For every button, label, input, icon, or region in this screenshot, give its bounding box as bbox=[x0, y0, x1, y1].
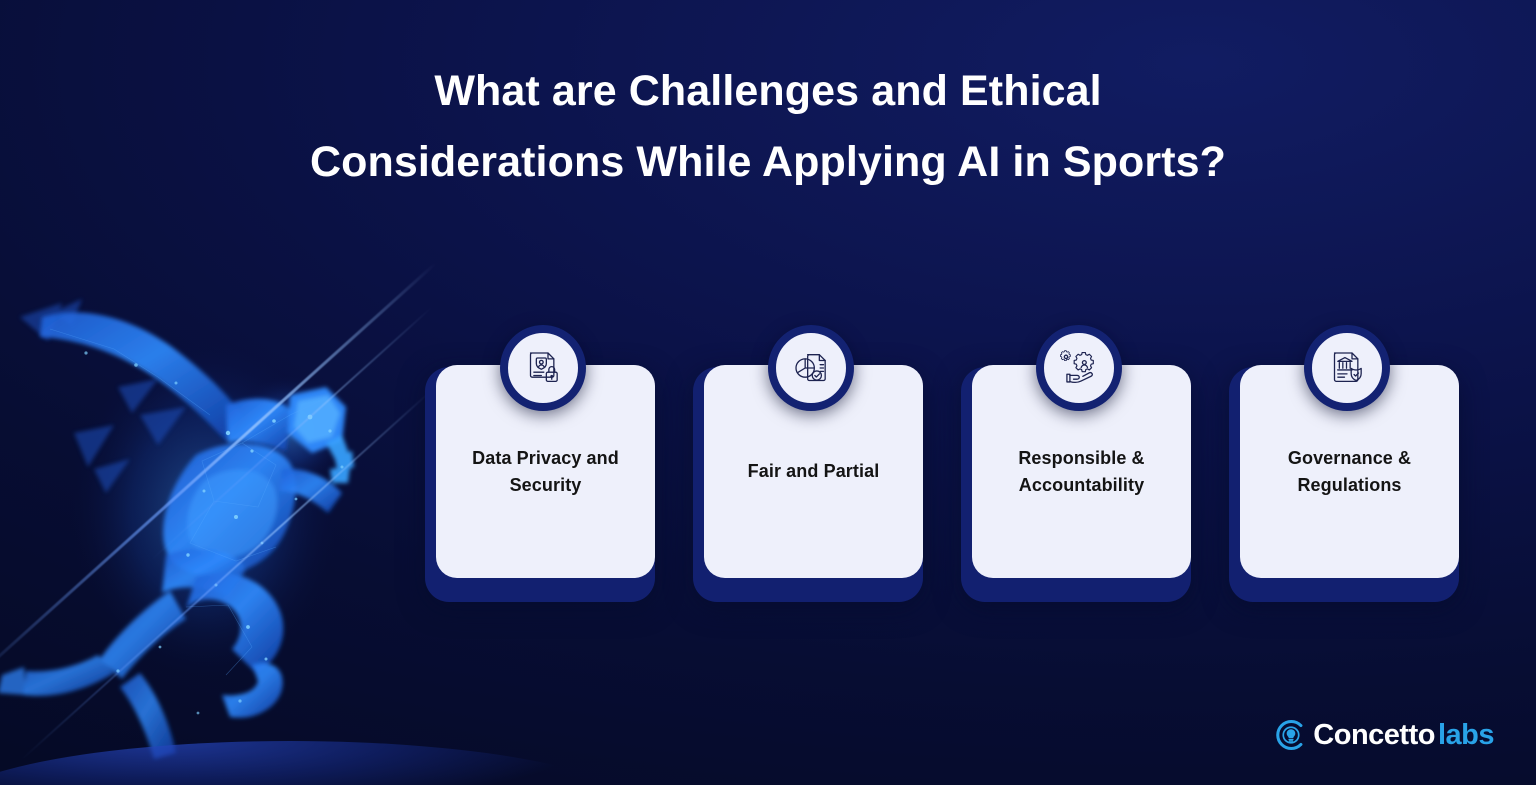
card-label: Fair and Partial bbox=[748, 458, 880, 484]
concettolabs-logo[interactable]: Concetto labs bbox=[1273, 717, 1494, 753]
hand-gears-person-icon bbox=[1036, 325, 1122, 411]
bottom-glow-band bbox=[0, 741, 640, 785]
page-title: What are Challenges and Ethical Consider… bbox=[0, 56, 1536, 198]
page-title-line-2: Considerations While Applying AI in Spor… bbox=[120, 127, 1416, 198]
circle-lightbulb-icon bbox=[1273, 717, 1309, 753]
bank-document-shield-icon bbox=[1304, 325, 1390, 411]
card-fair-and-partial[interactable]: Fair and Partial bbox=[693, 325, 939, 605]
logo-word-secondary: labs bbox=[1438, 721, 1494, 750]
card-data-privacy-and-security[interactable]: Data Privacy and Security bbox=[425, 325, 671, 605]
logo-word-primary: Concetto bbox=[1313, 721, 1435, 750]
infographic-canvas: What are Challenges and Ethical Consider… bbox=[0, 0, 1536, 785]
challenge-cards-row: Data Privacy and Security Fair and bbox=[425, 325, 1475, 605]
digital-sprinter-artwork bbox=[0, 255, 420, 785]
light-streak-1 bbox=[0, 262, 437, 692]
card-label: Data Privacy and Security bbox=[454, 445, 637, 497]
card-responsible-and-accountability[interactable]: Responsible & Accountability bbox=[961, 325, 1207, 605]
pie-chart-document-check-icon bbox=[768, 325, 854, 411]
light-streak-2 bbox=[19, 386, 436, 762]
card-label: Responsible & Accountability bbox=[990, 445, 1173, 497]
light-streak-3 bbox=[149, 306, 433, 562]
document-person-lock-icon bbox=[500, 325, 586, 411]
card-label: Governance & Regulations bbox=[1258, 445, 1441, 497]
page-title-line-1: What are Challenges and Ethical bbox=[120, 56, 1416, 127]
card-governance-and-regulations[interactable]: Governance & Regulations bbox=[1229, 325, 1475, 605]
